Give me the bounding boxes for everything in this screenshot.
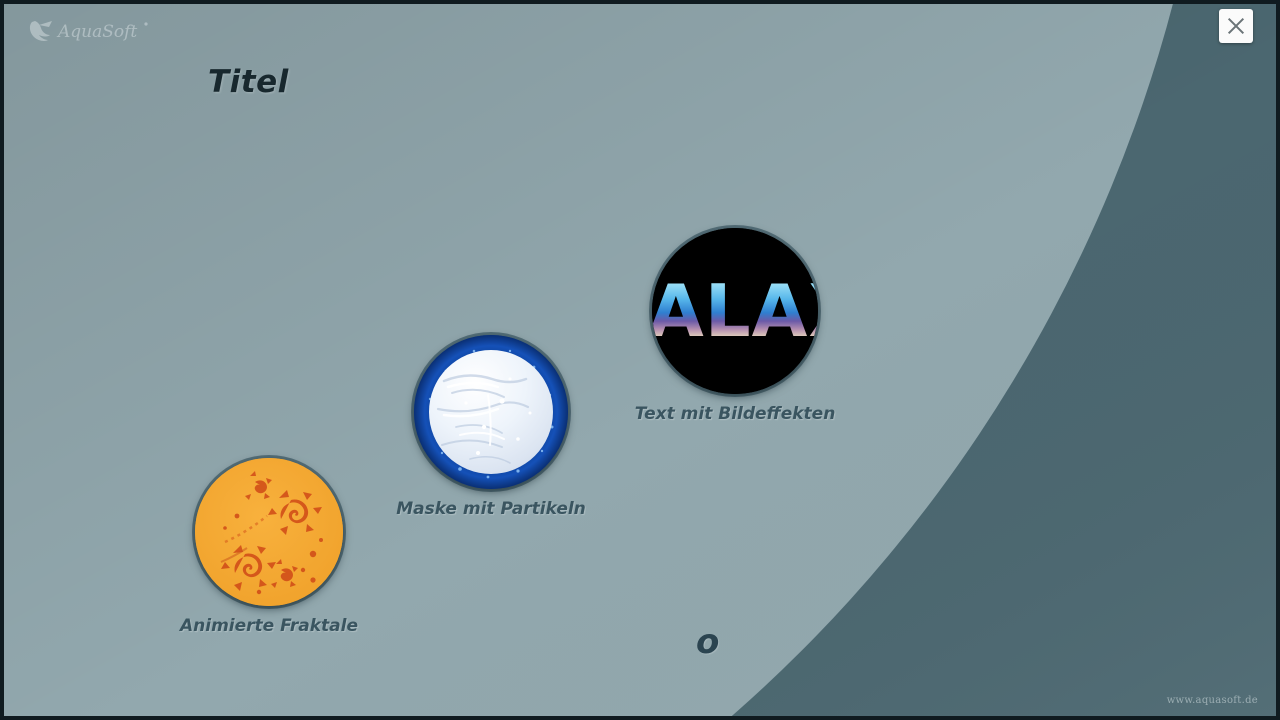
- aquasoft-logo: AquaSoft: [26, 16, 156, 50]
- fractal-image: [195, 458, 343, 606]
- item-label: Text mit Bildeffekten: [635, 404, 836, 424]
- item-text-mit-bildeffekten[interactable]: ALAX Text mit Bildeffekten: [652, 228, 818, 394]
- particle-mask-image: [414, 335, 568, 489]
- text-effects-image: ALAX: [652, 228, 818, 394]
- presentation-stage: AquaSoft Titel: [0, 0, 1280, 720]
- item-maske-mit-partikeln[interactable]: Maske mit Partikeln: [414, 335, 568, 489]
- close-button[interactable]: [1219, 9, 1253, 43]
- particle-mask-thumbnail[interactable]: [414, 335, 568, 489]
- galaxy-text: ALAX: [652, 269, 818, 353]
- background-arcs: [0, 0, 1280, 720]
- item-label: Animierte Fraktale: [180, 616, 358, 636]
- page-title: Titel: [208, 64, 289, 100]
- fractal-thumbnail[interactable]: [195, 458, 343, 606]
- brand-wordmark: AquaSoft: [56, 22, 137, 42]
- text-effects-thumbnail[interactable]: ALAX: [652, 228, 818, 394]
- item-animierte-fraktale[interactable]: Animierte Fraktale: [195, 458, 343, 606]
- truncated-caption-marker: o: [696, 622, 719, 662]
- item-label: Maske mit Partikeln: [396, 499, 586, 519]
- watermark: www.aquasoft.de: [1167, 695, 1258, 706]
- close-icon: [1225, 15, 1247, 37]
